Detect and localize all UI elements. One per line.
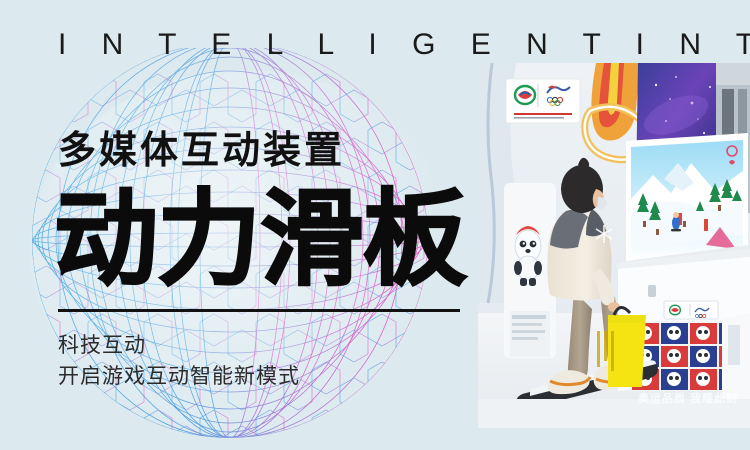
product-photo: 奥运品质 我耀此刻 [478, 63, 750, 428]
subtitle-text: 多媒体互动装置 [58, 129, 345, 173]
divider-rule [58, 309, 460, 312]
tagline-block: 科技互动 开启游戏互动智能新模式 [58, 330, 300, 392]
main-title-text: 动力滑板 [54, 186, 466, 294]
poster-canvas: I N T E L L I G E N T I N T E R A C T I … [0, 0, 750, 450]
tagline-line-1: 科技互动 [58, 330, 300, 361]
headline-intelligent-interaction: I N T E L L I G E N T I N T E R A C T I … [58, 28, 698, 62]
tagline-line-2: 开启游戏互动智能新模式 [58, 361, 300, 392]
